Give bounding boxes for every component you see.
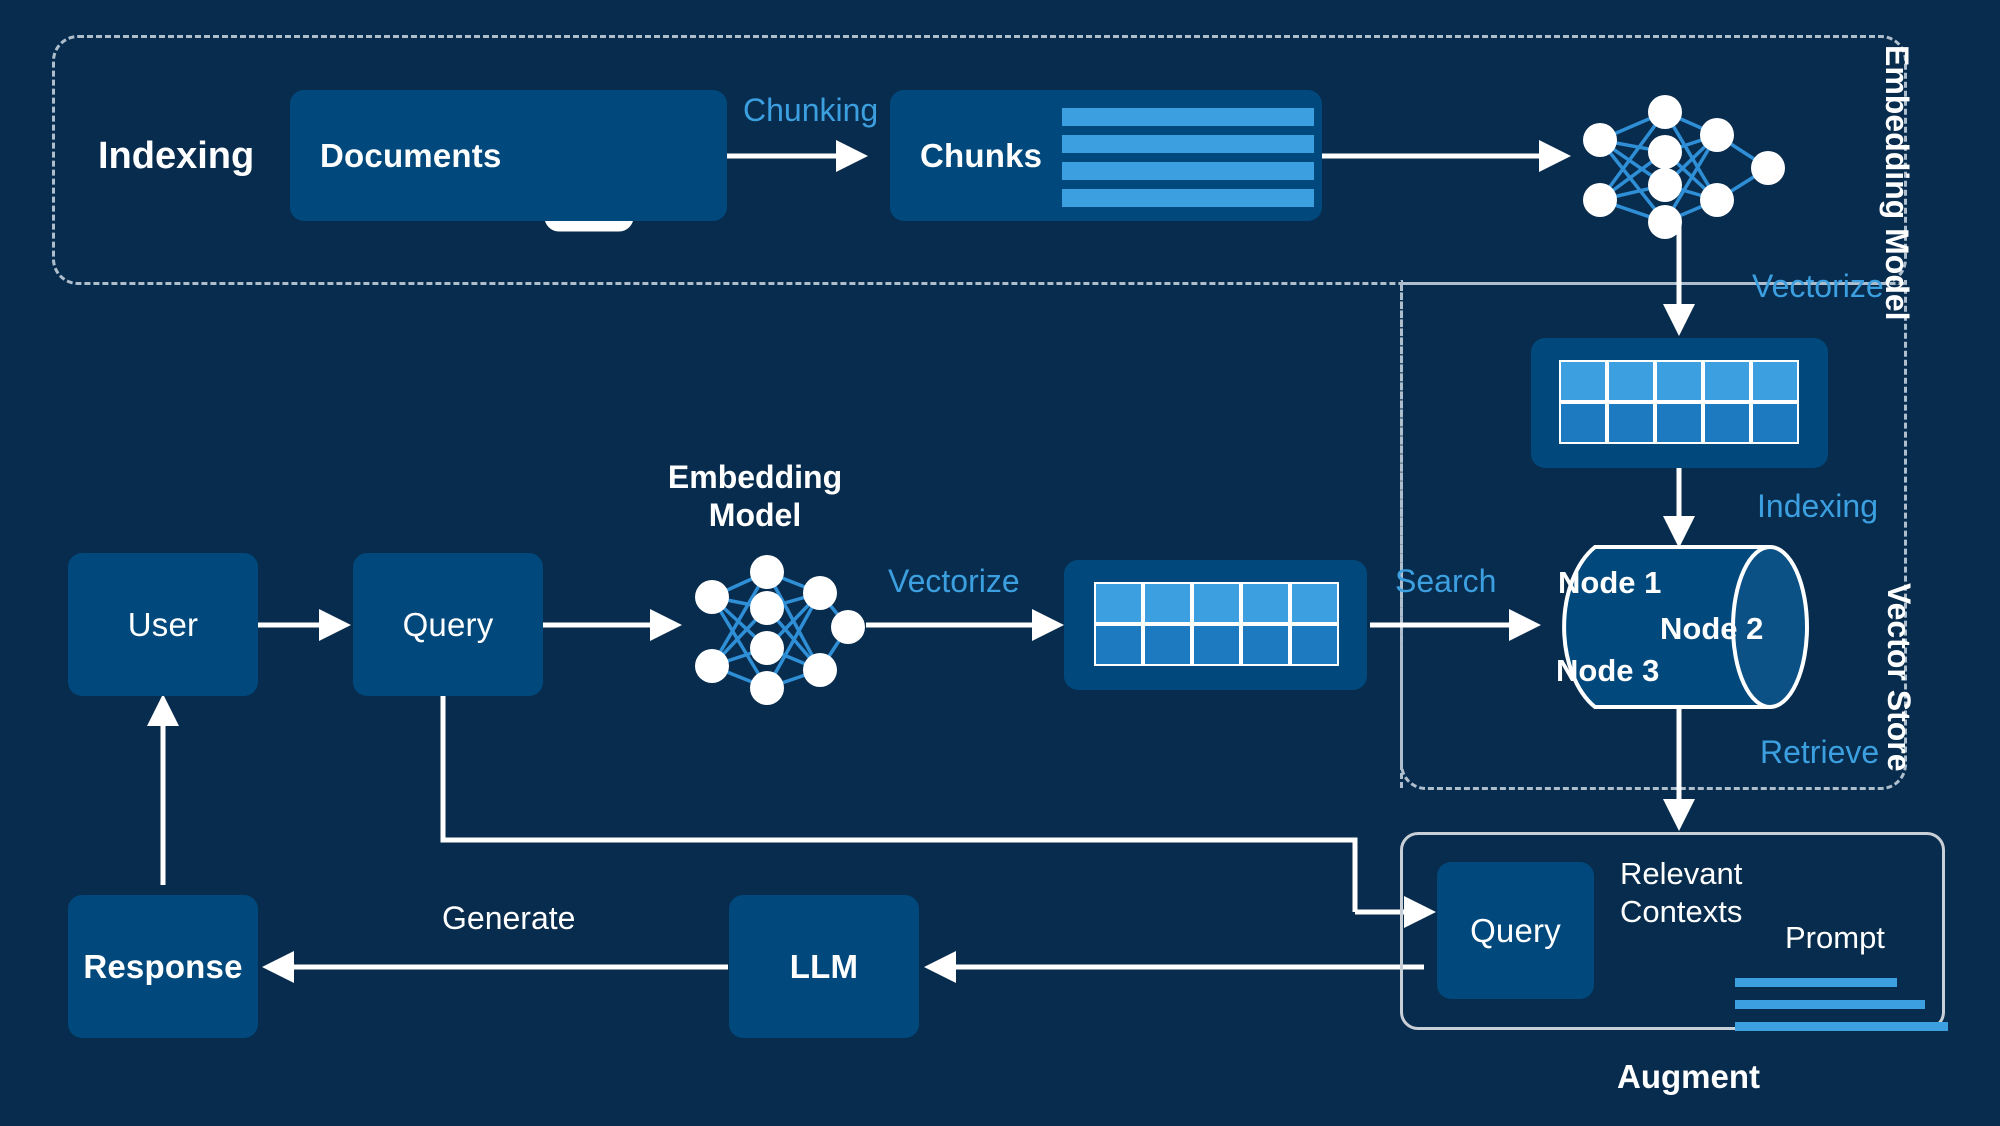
chunk-bar bbox=[1062, 108, 1314, 126]
prompt-lines bbox=[1735, 978, 1948, 1031]
prompt-line bbox=[1735, 1000, 1925, 1009]
vector-cell bbox=[1559, 360, 1607, 402]
connector-query-to-augment-path bbox=[443, 695, 1355, 912]
vector-cell bbox=[1290, 624, 1339, 666]
chunks-box-label: Chunks bbox=[920, 137, 1042, 175]
prompt-label: Prompt bbox=[1785, 920, 1885, 956]
prompt-line bbox=[1735, 978, 1897, 987]
embedding-model-caption: Embedding Model bbox=[640, 458, 870, 534]
augment-query-box-label: Query bbox=[1470, 912, 1561, 950]
retrieve-label: Retrieve bbox=[1760, 734, 1879, 771]
chunk-bar bbox=[1062, 162, 1314, 180]
vector-cell bbox=[1290, 582, 1339, 624]
query-vector-grid bbox=[1094, 582, 1339, 666]
vector-store-node-3: Node 3 bbox=[1556, 653, 1659, 689]
indexing-step-label: Indexing bbox=[1757, 488, 1878, 525]
indexed-vector-grid bbox=[1559, 360, 1799, 444]
embedding-model-group-label: Embedding Model bbox=[1878, 45, 1915, 321]
documents-box[interactable]: Documents bbox=[290, 90, 727, 221]
vector-grid-row-top bbox=[1559, 360, 1799, 402]
relevant-contexts-line1: Relevant bbox=[1620, 855, 1742, 893]
chunk-bar bbox=[1062, 135, 1314, 153]
vector-grid-row-top bbox=[1094, 582, 1339, 624]
vectorize-label-mid: Vectorize bbox=[888, 563, 1020, 600]
vector-store-group-label: Vector Store bbox=[1880, 583, 1917, 772]
llm-box[interactable]: LLM bbox=[729, 895, 919, 1038]
embedding-model-caption-line2: Model bbox=[640, 496, 870, 534]
vector-grid-row-bottom bbox=[1559, 402, 1799, 444]
vector-cell bbox=[1703, 402, 1751, 444]
vector-cell bbox=[1094, 624, 1143, 666]
query-box[interactable]: Query bbox=[353, 553, 543, 696]
indexing-group-label: Indexing bbox=[98, 135, 254, 178]
chunk-bar bbox=[1062, 189, 1314, 207]
vector-cell bbox=[1559, 402, 1607, 444]
vector-cell bbox=[1241, 582, 1290, 624]
vector-cell bbox=[1143, 582, 1192, 624]
augment-caption: Augment bbox=[1617, 1058, 1760, 1096]
chunking-label: Chunking bbox=[743, 92, 878, 129]
vector-cell bbox=[1241, 624, 1290, 666]
vector-cell bbox=[1607, 402, 1655, 444]
user-box[interactable]: User bbox=[68, 553, 258, 696]
vector-store-node-2: Node 2 bbox=[1660, 611, 1763, 647]
rag-diagram-canvas: Indexing Documents Chunking Chunks Vecto… bbox=[0, 0, 2000, 1126]
chunks-bars bbox=[1062, 108, 1314, 207]
vector-cell bbox=[1094, 582, 1143, 624]
response-box[interactable]: Response bbox=[68, 895, 258, 1038]
vector-store-node-1: Node 1 bbox=[1558, 565, 1661, 601]
vector-grid-row-bottom bbox=[1094, 624, 1339, 666]
relevant-contexts-line2: Contexts bbox=[1620, 893, 1742, 931]
query-box-label: Query bbox=[403, 606, 494, 644]
search-label: Search bbox=[1395, 563, 1496, 600]
response-box-label: Response bbox=[83, 948, 242, 986]
vector-cell bbox=[1703, 360, 1751, 402]
user-box-label: User bbox=[128, 606, 198, 644]
vector-cell bbox=[1143, 624, 1192, 666]
generate-label: Generate bbox=[442, 900, 575, 937]
vector-cell bbox=[1655, 402, 1703, 444]
vector-cell bbox=[1192, 624, 1241, 666]
vector-cell bbox=[1751, 360, 1799, 402]
vector-cell bbox=[1655, 360, 1703, 402]
documents-box-label: Documents bbox=[320, 137, 502, 175]
vector-cell bbox=[1192, 582, 1241, 624]
neural-network-icon-top bbox=[1600, 112, 1768, 222]
llm-box-label: LLM bbox=[790, 948, 858, 986]
vector-cell bbox=[1607, 360, 1655, 402]
relevant-contexts-label: Relevant Contexts bbox=[1620, 855, 1742, 931]
embedding-model-caption-line1: Embedding bbox=[640, 458, 870, 496]
prompt-line bbox=[1735, 1022, 1948, 1031]
vector-cell bbox=[1751, 402, 1799, 444]
neural-network-nodes-mid bbox=[695, 555, 865, 705]
vectorize-label-top: Vectorize bbox=[1752, 268, 1884, 305]
augment-query-box[interactable]: Query bbox=[1437, 862, 1594, 999]
